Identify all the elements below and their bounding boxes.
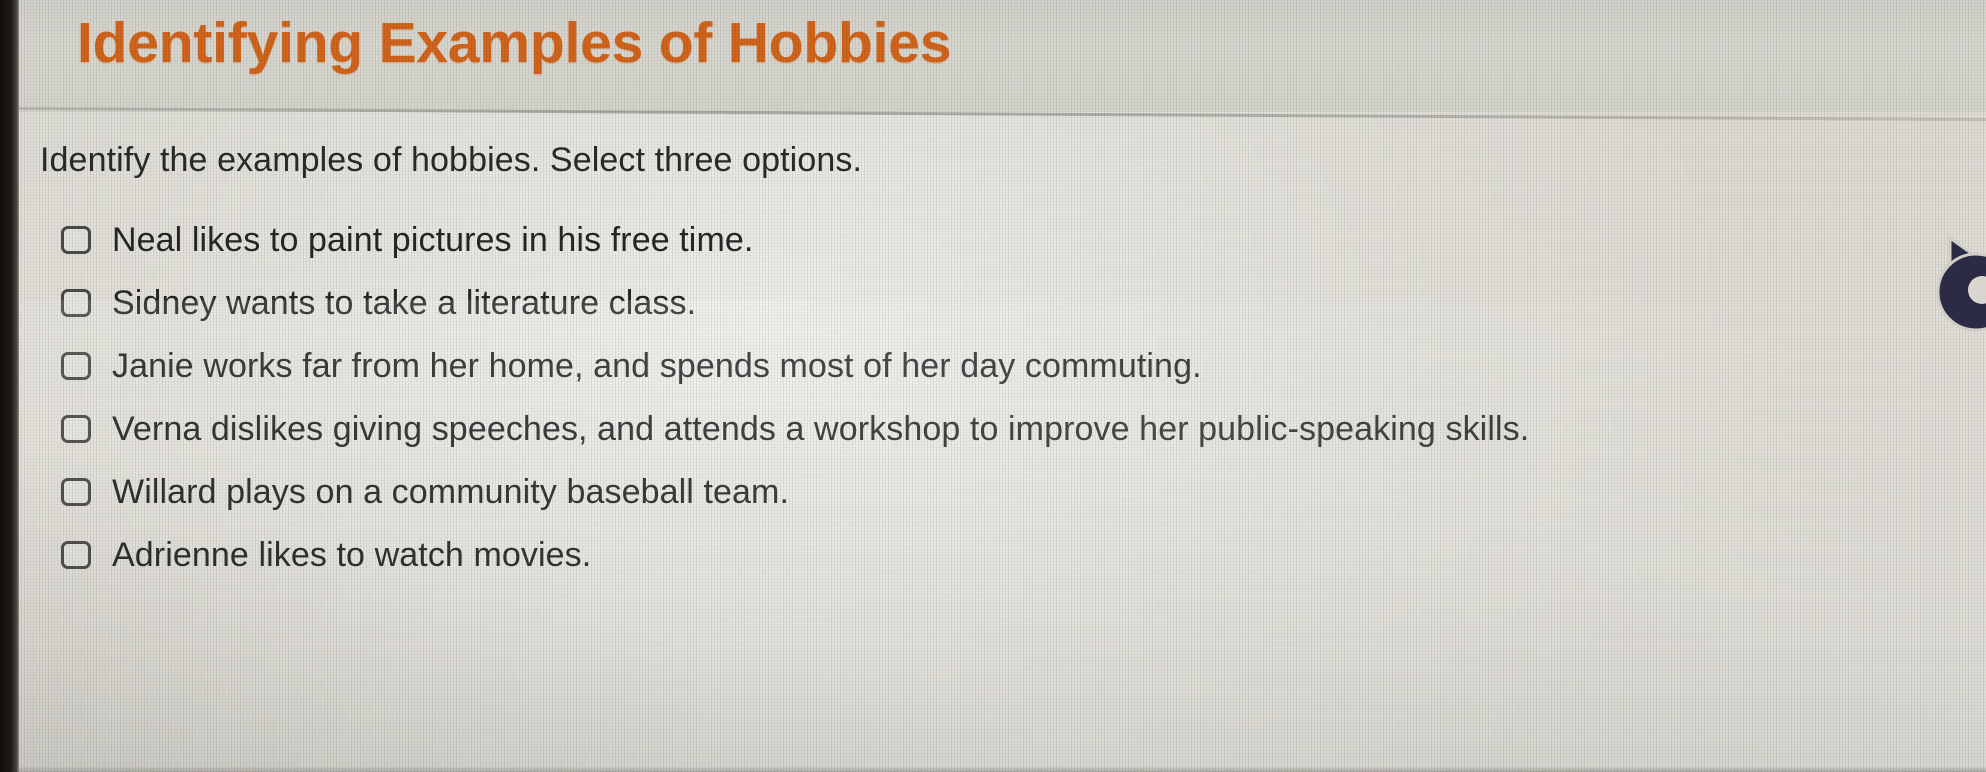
checkbox-icon-6[interactable] xyxy=(61,541,91,569)
option-label-1: Neal likes to paint pictures in his free… xyxy=(112,223,753,257)
checkbox-icon-2[interactable] xyxy=(61,289,91,317)
question-prompt: Identify the examples of hobbies. Select… xyxy=(40,141,862,180)
checkbox-icon-1[interactable] xyxy=(61,226,91,254)
checkbox-icon-4[interactable] xyxy=(61,415,91,443)
option-row-3[interactable]: Janie works far from her home, and spend… xyxy=(40,334,1940,397)
option-label-5: Willard plays on a community baseball te… xyxy=(112,475,789,509)
option-label-3: Janie works far from her home, and spend… xyxy=(112,349,1202,383)
bottom-shadow xyxy=(0,766,1986,772)
checkbox-icon-5[interactable] xyxy=(61,478,91,506)
option-row-4[interactable]: Verna dislikes giving speeches, and atte… xyxy=(40,397,1940,460)
page-title: Identifying Examples of Hobbies xyxy=(77,10,951,76)
cat-sticker-icon xyxy=(1916,228,1986,340)
option-row-1[interactable]: Neal likes to paint pictures in his free… xyxy=(40,208,1940,271)
photographed-screen: Identifying Examples of Hobbies Identify… xyxy=(0,0,1986,772)
option-label-4: Verna dislikes giving speeches, and atte… xyxy=(112,412,1529,446)
left-bezel xyxy=(0,0,19,772)
option-row-6[interactable]: Adrienne likes to watch movies. xyxy=(40,523,1940,586)
option-label-6: Adrienne likes to watch movies. xyxy=(112,538,591,572)
option-row-2[interactable]: Sidney wants to take a literature class. xyxy=(40,271,1940,334)
option-row-5[interactable]: Willard plays on a community baseball te… xyxy=(40,460,1940,523)
checkbox-icon-3[interactable] xyxy=(61,352,91,380)
title-band: Identifying Examples of Hobbies xyxy=(19,0,1986,112)
option-label-2: Sidney wants to take a literature class. xyxy=(112,286,696,320)
options-list: Neal likes to paint pictures in his free… xyxy=(40,208,1940,586)
question-body: Identify the examples of hobbies. Select… xyxy=(19,112,1986,772)
